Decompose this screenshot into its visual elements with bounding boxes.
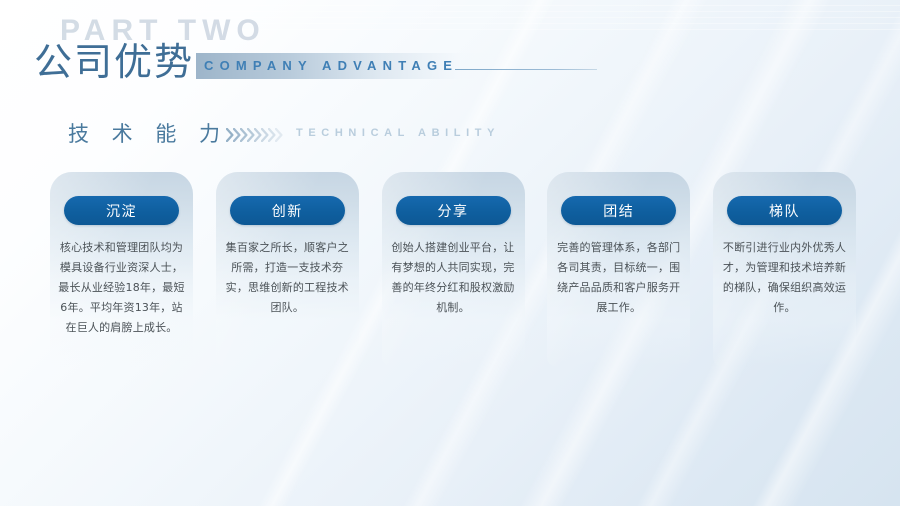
card-title-pill[interactable]: 团结 [561,196,676,225]
card-title-pill[interactable]: 梯队 [727,196,842,225]
slide-canvas: PART TWO 公司优势 COMPANY ADVANTAGE 技 术 能 力 … [0,0,900,506]
page-title: 公司优势 [34,40,194,84]
page-title-english: COMPANY ADVANTAGE [204,58,458,73]
section-subtitle: 技 术 能 力 TECHNICAL ABILITY [0,112,900,154]
chevron-right-icon-group [226,128,282,141]
card-body-text: 完善的管理体系，各部门各司其责，目标统一，围绕产品品质和客户服务开展工作。 [555,238,682,318]
advantage-card[interactable]: 分享创始人搭建创业平台，让有梦想的人共同实现，完善的年终分红和股权激励机制。 [382,172,525,367]
card-title-pill[interactable]: 沉淀 [64,196,179,225]
advantage-card[interactable]: 团结完善的管理体系，各部门各司其责，目标统一，围绕产品品质和客户服务开展工作。 [547,172,690,367]
card-body-text: 不断引进行业内外优秀人才，为管理和技术培养新的梯队，确保组织高效运作。 [721,238,848,318]
card-title-pill[interactable]: 创新 [230,196,345,225]
title-rule [455,69,597,70]
section-subtitle-cn: 技 术 能 力 [68,118,228,148]
advantage-card[interactable]: 创新集百家之所长，顺客户之所需，打造一支技术夯实，思维创新的工程技术团队。 [216,172,359,367]
advantage-card[interactable]: 沉淀核心技术和管理团队均为模具设备行业资深人士，最长从业经验18年，最短6年。平… [50,172,193,367]
section-subtitle-en: TECHNICAL ABILITY [296,127,500,139]
advantage-card-row: 沉淀核心技术和管理团队均为模具设备行业资深人士，最长从业经验18年，最短6年。平… [50,172,856,367]
card-body-text: 核心技术和管理团队均为模具设备行业资深人士，最长从业经验18年，最短6年。平均年… [58,238,185,338]
chevron-right-icon [275,128,283,141]
card-title-pill[interactable]: 分享 [396,196,511,225]
card-body-text: 集百家之所长，顺客户之所需，打造一支技术夯实，思维创新的工程技术团队。 [224,238,351,318]
card-body-text: 创始人搭建创业平台，让有梦想的人共同实现，完善的年终分红和股权激励机制。 [390,238,517,318]
slide-header: PART TWO 公司优势 COMPANY ADVANTAGE [0,0,900,110]
advantage-card[interactable]: 梯队不断引进行业内外优秀人才，为管理和技术培养新的梯队，确保组织高效运作。 [713,172,856,367]
